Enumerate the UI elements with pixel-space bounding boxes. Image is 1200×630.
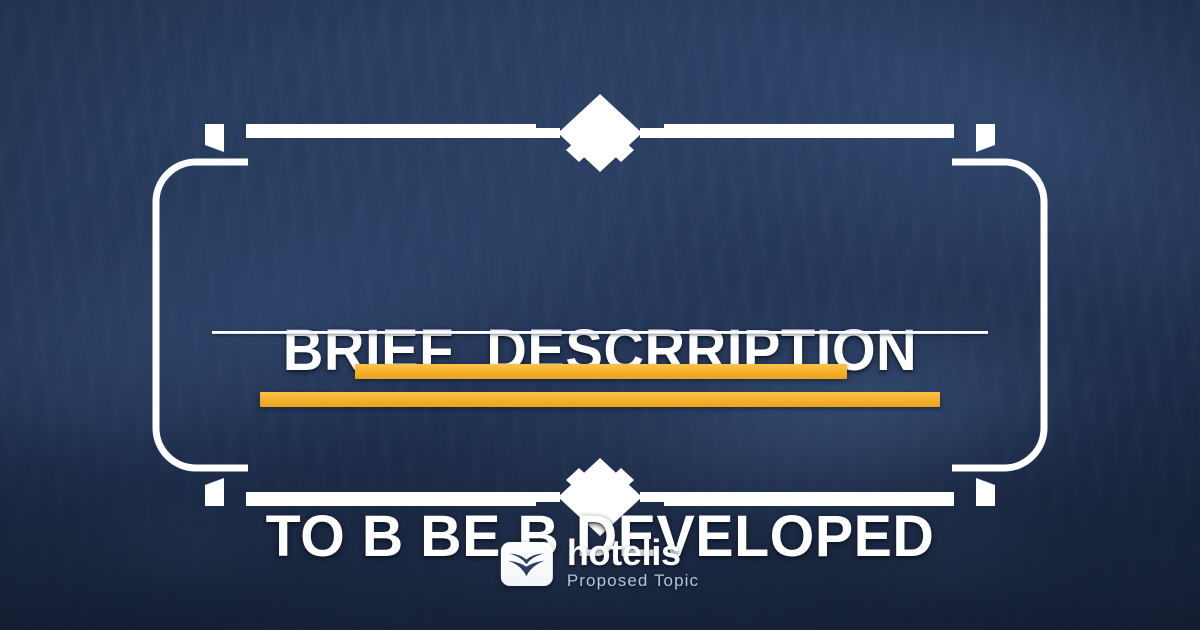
slide-content: BRIEF DESCRRIPTION TO B BE B DEVELOPED h… [0,0,1200,630]
logo-tagline: Proposed Topic [567,571,699,591]
logo-mark [501,542,553,586]
logo-text-block: hotelis Proposed Topic [567,536,699,591]
open-book-wings-icon [507,549,547,579]
accent-bar-bottom [260,392,940,407]
title-divider-rule [212,331,988,334]
slide-canvas: BRIEF DESCRRIPTION TO B BE B DEVELOPED h… [0,0,1200,630]
brand-logo-lockup: hotelis Proposed Topic [501,536,699,591]
accent-bar-top [355,364,847,379]
logo-wordmark: hotelis [567,536,681,570]
